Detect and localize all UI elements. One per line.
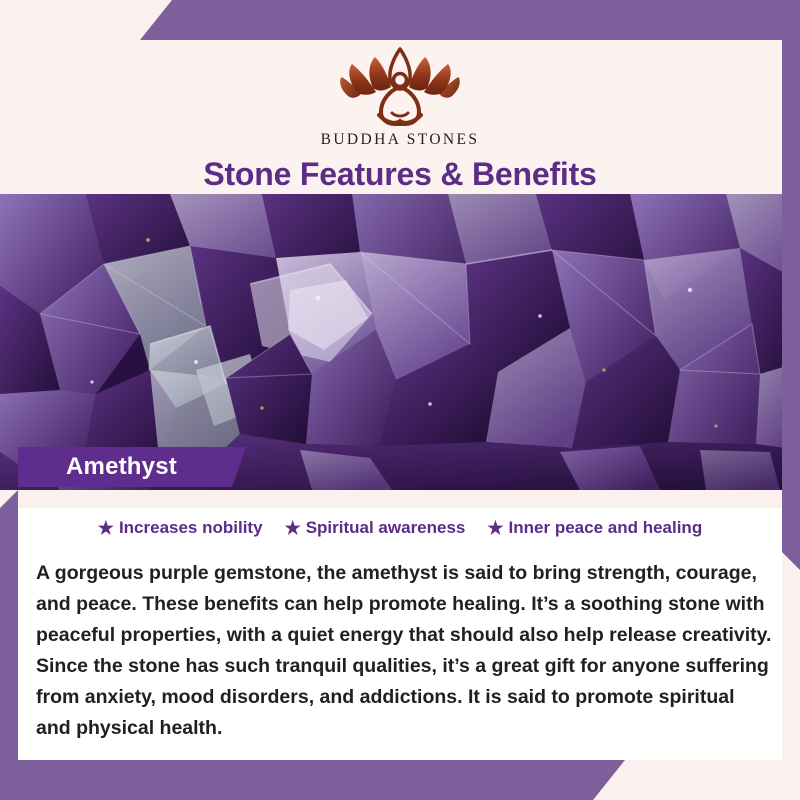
feature-label: Inner peace and healing — [509, 518, 703, 538]
poster-header: BUDDHA STONES Stone Features & Benefits — [18, 40, 782, 194]
brand-logo: BUDDHA STONES — [321, 42, 480, 149]
feature-item: ★ Spiritual awareness — [285, 518, 466, 538]
stone-name-label: Amethyst — [18, 453, 177, 481]
content-top-fade — [18, 490, 782, 508]
feature-label: Increases nobility — [119, 518, 263, 538]
feature-label: Spiritual awareness — [306, 518, 466, 538]
amethyst-crystal-art — [0, 194, 800, 490]
stone-description: A gorgeous purple gemstone, the amethyst… — [36, 558, 774, 744]
feature-item: ★ Inner peace and healing — [487, 518, 702, 538]
lotus-meditation-icon — [325, 42, 475, 130]
stone-info-poster: BUDDHA STONES Stone Features & Benefits — [0, 0, 800, 800]
decorative-border-right — [782, 40, 800, 570]
decorative-border-bottom — [0, 760, 625, 800]
star-icon: ★ — [285, 519, 301, 537]
brand-name: BUDDHA STONES — [321, 131, 480, 149]
star-icon: ★ — [487, 519, 503, 537]
page-title: Stone Features & Benefits — [203, 156, 596, 193]
content-section: ★ Increases nobility ★ Spiritual awarene… — [18, 490, 782, 760]
decorative-border-top — [140, 0, 800, 40]
stone-name-banner: Amethyst — [18, 447, 246, 487]
decorative-border-left — [0, 490, 18, 760]
features-list: ★ Increases nobility ★ Spiritual awarene… — [18, 518, 782, 538]
star-icon: ★ — [98, 519, 114, 537]
feature-item: ★ Increases nobility — [98, 518, 263, 538]
gemstone-image — [0, 194, 800, 490]
